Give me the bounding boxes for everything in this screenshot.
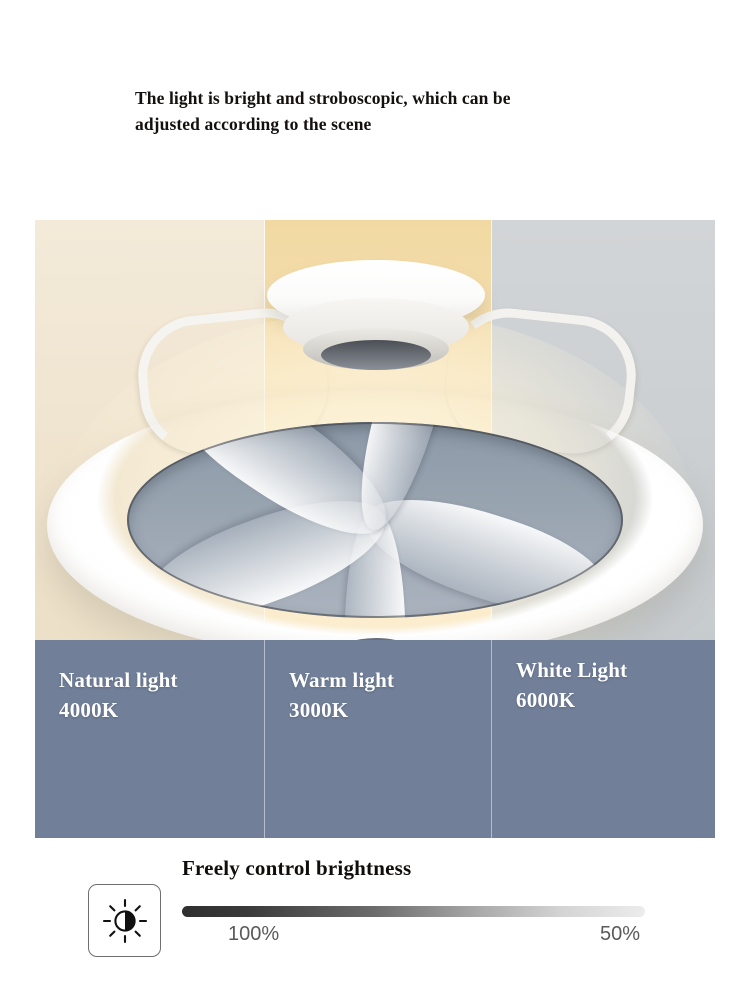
brightness-icon-box xyxy=(88,884,161,957)
mode-name: Warm light xyxy=(289,666,394,696)
caption-text: White Light 6000K xyxy=(516,656,627,716)
caption-white-light: White Light 6000K xyxy=(492,640,715,838)
caption-warm-light: Warm light 3000K xyxy=(265,640,492,838)
mode-temperature: 3000K xyxy=(289,696,394,726)
caption-text: Warm light 3000K xyxy=(289,666,394,726)
brightness-slider[interactable] xyxy=(182,906,645,917)
mode-name: Natural light xyxy=(59,666,178,696)
brightness-half-sun-icon xyxy=(102,898,148,944)
brightness-min-label: 100% xyxy=(228,923,279,946)
mode-temperature: 6000K xyxy=(516,686,627,716)
mode-temperature: 4000K xyxy=(59,696,178,726)
caption-text: Natural light 4000K xyxy=(59,666,178,726)
fan-recess xyxy=(127,422,623,618)
brightness-title: Freely control brightness xyxy=(182,856,411,881)
canopy-aperture xyxy=(321,340,431,370)
brightness-max-label: 50% xyxy=(600,923,640,946)
page-headline: The light is bright and stroboscopic, wh… xyxy=(135,86,555,137)
caption-natural-light: Natural light 4000K xyxy=(35,640,265,838)
mode-name: White Light xyxy=(516,656,627,686)
light-mode-caption-band: Natural light 4000K Warm light 3000K Whi… xyxy=(35,640,715,838)
